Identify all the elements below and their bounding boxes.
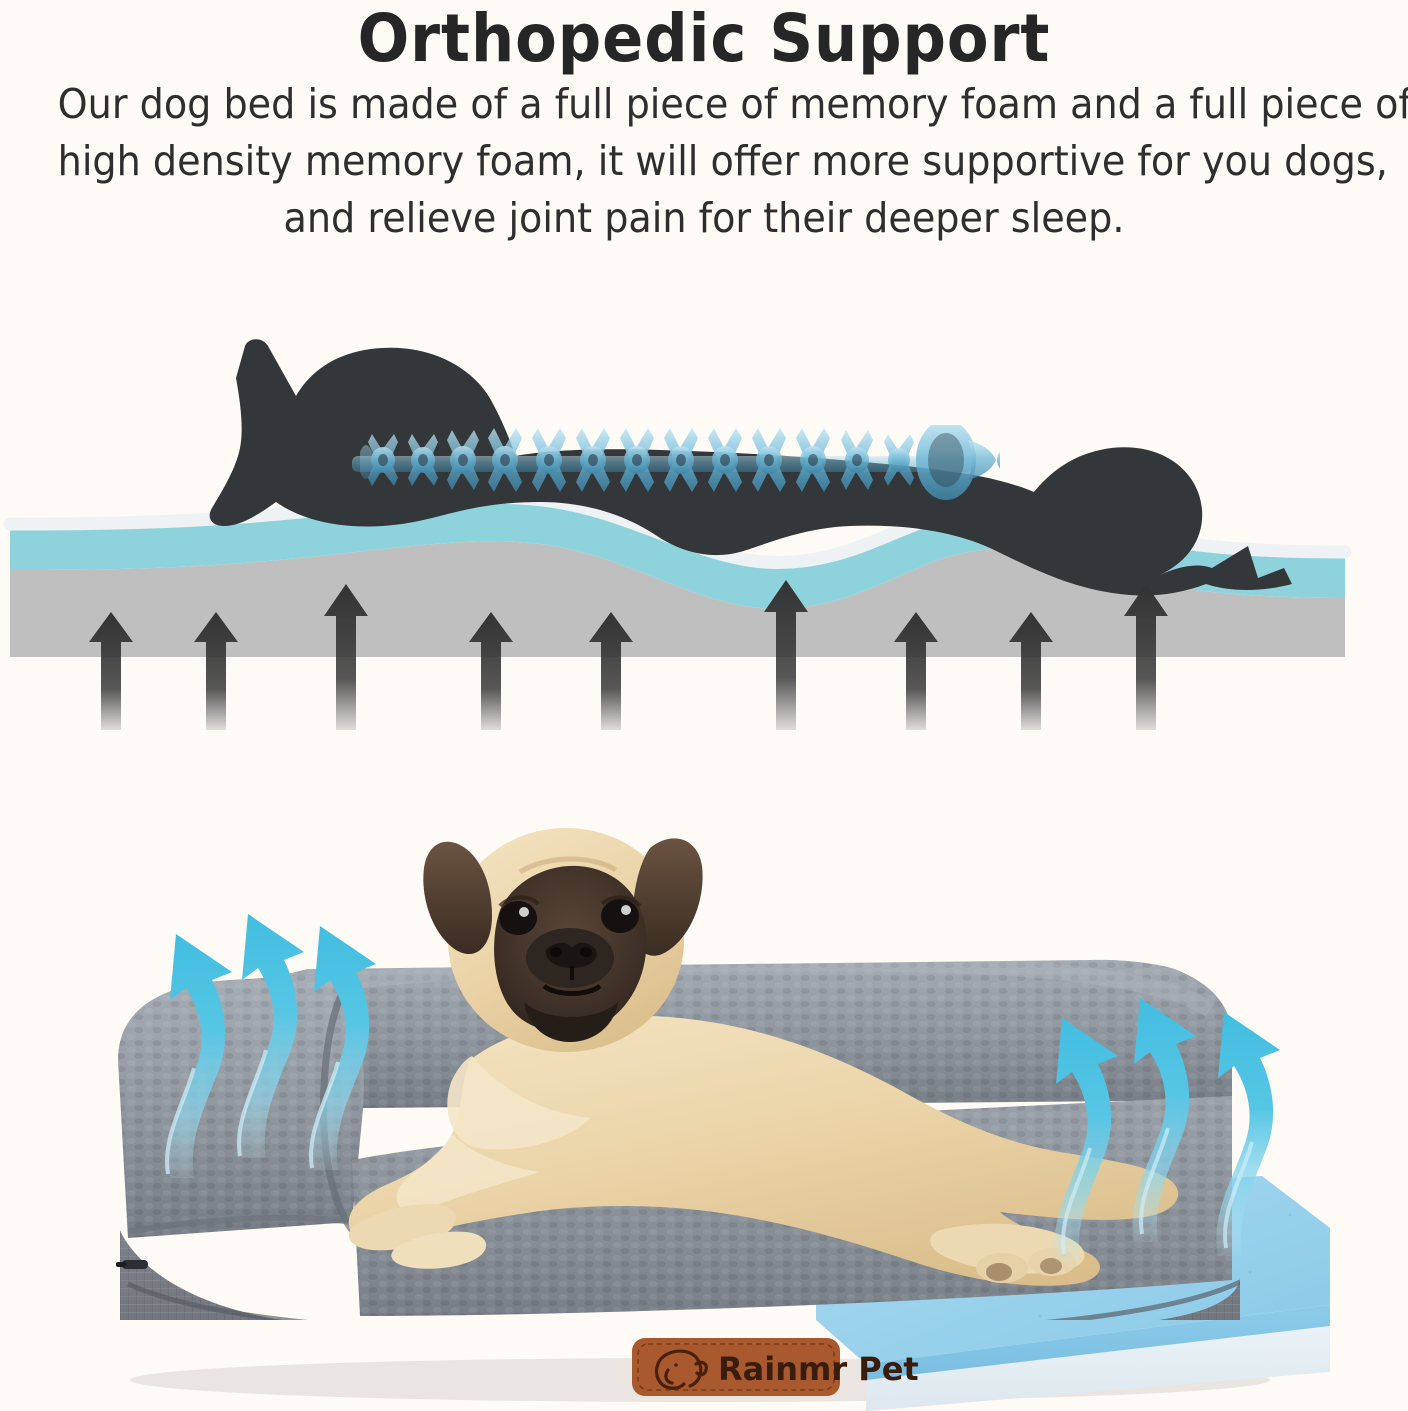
subcopy-line: Our dog bed is made of a full piece of m… xyxy=(58,76,1351,133)
page-title: Orthopedic Support xyxy=(56,0,1351,76)
page-subcopy: Our dog bed is made of a full piece of m… xyxy=(58,76,1351,247)
product-photo-scene: Rainmr Pet xyxy=(0,760,1408,1411)
subcopy-line: high density memory foam, it will offer … xyxy=(58,133,1351,190)
orthopedic-cross-section-diagram xyxy=(0,330,1408,730)
pug-ear-left xyxy=(423,842,492,954)
subcopy-line: and relieve joint pain for their deeper … xyxy=(58,190,1351,247)
header-block: Orthopedic Support Our dog bed is made o… xyxy=(0,0,1408,247)
patch-label: Rainmr Pet xyxy=(718,1350,919,1388)
